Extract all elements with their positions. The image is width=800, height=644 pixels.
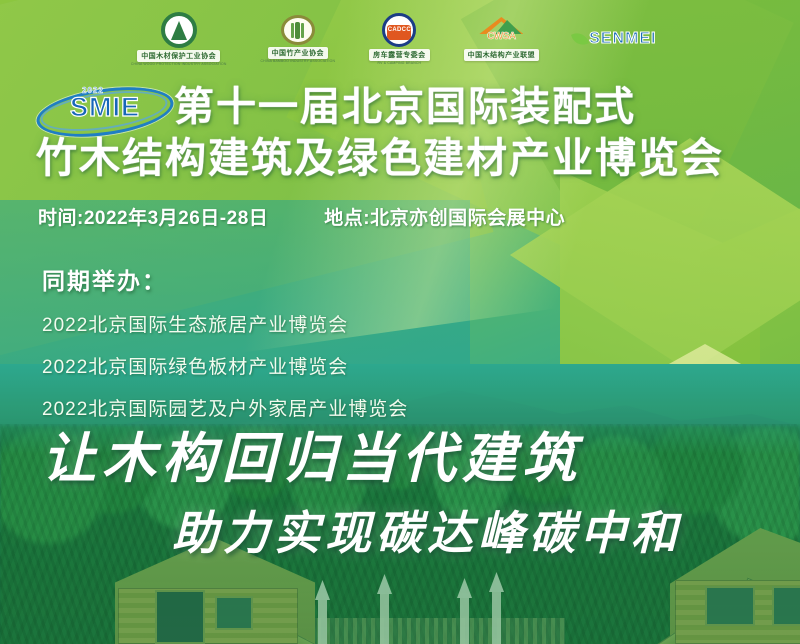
leaf-wordmark-icon: SENMEI <box>573 26 669 52</box>
smie-wordmark: SMIE <box>50 94 160 121</box>
concurrent-heading: 同期举办： <box>42 262 408 296</box>
house-roof-icon: CWSA <box>473 17 529 47</box>
concurrent-item: 2022北京国际绿色板材产业博览会 <box>42 352 408 379</box>
concurrent-item: 2022北京国际生态旅居产业博览会 <box>42 310 408 337</box>
concurrent-events: 同期举办： 2022北京国际生态旅居产业博览会 2022北京国际绿色板材产业博览… <box>42 262 408 436</box>
slogan-line-2: 助力实现碳达峰碳中和 <box>0 497 800 563</box>
slogan-line-1: 让木构回归当代建筑 <box>0 414 800 493</box>
event-meta: 时间:2022年3月26日-28日 地点:北京亦创国际会展中心 <box>38 203 565 230</box>
organizer-logo-strip: 中国木材保护工业协会 CHINA WOOD PROTECTION INDUSTR… <box>0 0 800 78</box>
logo-label-cn: 中国竹产业协会 <box>268 47 329 59</box>
event-date: 时间:2022年3月26日-28日 <box>38 203 268 230</box>
title-row-primary: 2022 SMIE 第十一届北京国际装配式 <box>0 82 800 134</box>
logo-label-en: CHINA BAMBOO INDUSTRY ASSOCIATION <box>261 59 336 63</box>
logo-abbr: CWSA <box>475 31 527 42</box>
logo-bamboo-association: 中国竹产业协会 CHINA BAMBOO INDUSTRY ASSOCIATIO… <box>261 15 336 63</box>
cadcc-round-icon: CADCC <box>382 13 416 47</box>
logo-china-wood-protection: 中国木材保护工业协会 CHINA WOOD PROTECTION INDUSTR… <box>131 12 227 66</box>
bamboo-shape <box>295 22 300 39</box>
exhibition-poster: 中国木材保护工业协会 CHINA WOOD PROTECTION INDUSTR… <box>0 0 800 644</box>
green-ring-tree-icon <box>161 12 197 48</box>
logo-cwsa: CWSA 中国木结构产业联盟 <box>464 17 540 61</box>
logo-label-cn: 中国木结构产业联盟 <box>464 49 540 61</box>
logo-label-cn: 房车露营专委会 <box>369 49 430 61</box>
leaf-shape <box>571 30 589 48</box>
logo-abbr: CADCC <box>388 27 411 33</box>
logo-label-cn: 中国木材保护工业协会 <box>137 50 220 62</box>
logo-senmei: SENMEI <box>573 26 669 52</box>
title-block: 2022 SMIE 第十一届北京国际装配式 竹木结构建筑及绿色建材产业博览会 <box>0 82 800 180</box>
logo-abbr: SENMEI <box>589 30 656 48</box>
smie-logo: 2022 SMIE <box>36 85 168 131</box>
event-venue: 地点:北京亦创国际会展中心 <box>324 203 565 230</box>
title-row-secondary: 竹木结构建筑及绿色建材产业博览会 <box>0 136 800 180</box>
logo-label-en: RV & CAMPING BRANCH <box>378 61 422 65</box>
logo-cadcc: CADCC 房车露营专委会 RV & CAMPING BRANCH <box>369 13 430 65</box>
page-title-line-2: 竹木结构建筑及绿色建材产业博览会 <box>36 136 800 180</box>
tree-shape <box>171 21 187 40</box>
slogan-block: 让木构回归当代建筑 助力实现碳达峰碳中和 <box>0 414 800 563</box>
bamboo-oval-icon <box>281 15 315 45</box>
logo-label-en: CHINA WOOD PROTECTION INDUSTRY ASSOCIATI… <box>131 62 227 66</box>
page-title-line-1: 第十一届北京国际装配式 <box>174 86 636 129</box>
